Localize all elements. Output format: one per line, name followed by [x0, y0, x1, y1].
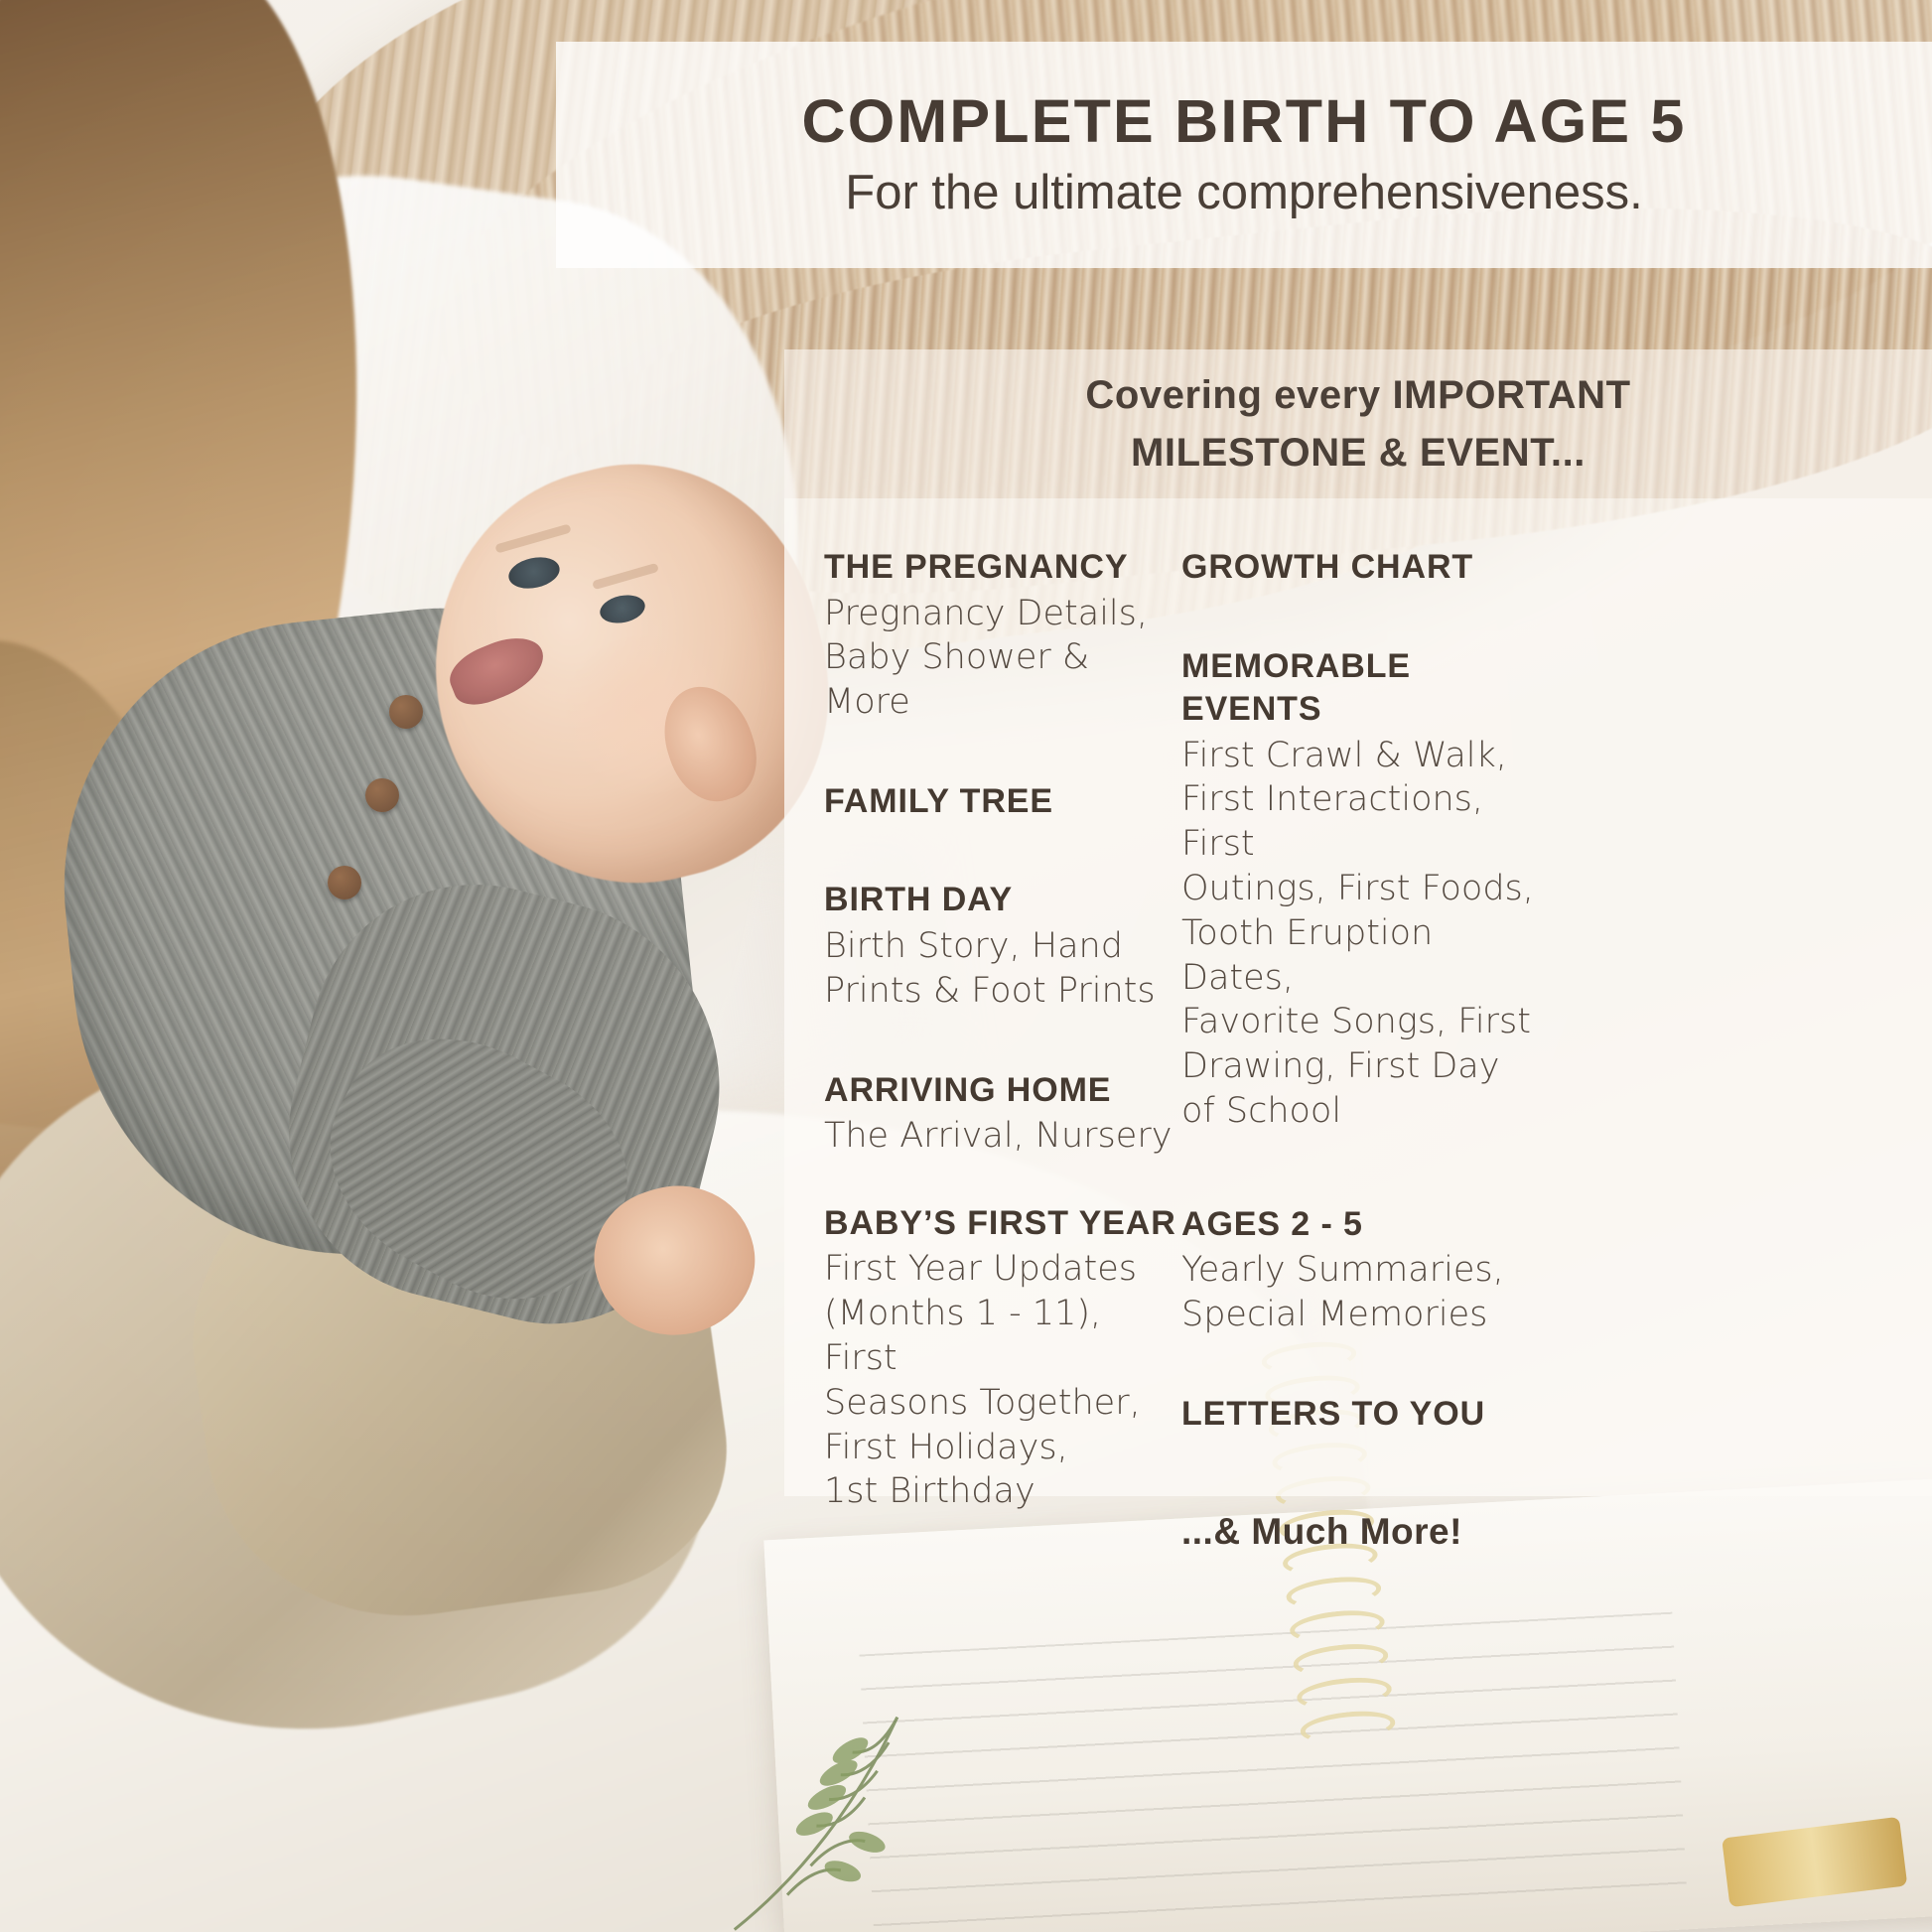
feature-letters-to-you: LETTERS TO YOU — [1181, 1393, 1539, 1437]
feature-babys-first-year: BABY’S FIRST YEAR First Year Updates(Mon… — [824, 1202, 1181, 1514]
feature-heading: LETTERS TO YOU — [1181, 1393, 1539, 1437]
feature-detail: First Year Updates(Months 1 - 11), First… — [824, 1247, 1181, 1514]
feature-heading: AGES 2 - 5 — [1181, 1203, 1539, 1247]
feature-list-panel: THE PREGNANCY Pregnancy Details,Baby Sho… — [784, 498, 1932, 1496]
feature-heading: ARRIVING HOME — [824, 1069, 1181, 1113]
feature-heading: BABY’S FIRST YEAR — [824, 1202, 1181, 1246]
feature-the-pregnancy: THE PREGNANCY Pregnancy Details,Baby Sho… — [824, 546, 1181, 725]
feature-ages-2-5: AGES 2 - 5 Yearly Summaries,Special Memo… — [1181, 1203, 1539, 1337]
feature-heading: FAMILY TREE — [824, 780, 1181, 824]
feature-column-right: GROWTH CHART MEMORABLE EVENTS First Craw… — [1181, 546, 1539, 1496]
feature-growth-chart: GROWTH CHART — [1181, 546, 1539, 590]
banner-line-1: Covering every IMPORTANT — [1085, 366, 1630, 424]
feature-heading: MEMORABLE EVENTS — [1181, 645, 1539, 732]
title-panel: COMPLETE BIRTH TO AGE 5 For the ultimate… — [556, 42, 1932, 268]
feature-column-left: THE PREGNANCY Pregnancy Details,Baby Sho… — [824, 546, 1181, 1496]
onesie-button — [328, 866, 361, 899]
feature-family-tree: FAMILY TREE — [824, 780, 1181, 824]
feature-detail: First Crawl & Walk,First Interactions, F… — [1181, 734, 1539, 1134]
feature-columns: THE PREGNANCY Pregnancy Details,Baby Sho… — [824, 546, 1932, 1496]
feature-heading: THE PREGNANCY — [824, 546, 1181, 590]
feature-heading: BIRTH DAY — [824, 879, 1181, 922]
journal-gold-foil — [1722, 1817, 1907, 1907]
onesie-button — [365, 778, 399, 812]
banner-line-2: MILESTONE & EVENT... — [1131, 424, 1586, 482]
promo-graphic: COMPLETE BIRTH TO AGE 5 For the ultimate… — [0, 0, 1932, 1932]
feature-heading: GROWTH CHART — [1181, 546, 1539, 590]
feature-detail: The Arrival, Nursery — [824, 1114, 1181, 1159]
feature-detail: Birth Story, HandPrints & Foot Prints — [824, 924, 1181, 1014]
much-more-text: ...& Much More! — [1181, 1511, 1539, 1553]
banner-panel: Covering every IMPORTANT MILESTONE & EVE… — [784, 349, 1932, 498]
page-title: COMPLETE BIRTH TO AGE 5 — [801, 89, 1686, 153]
page-subtitle: For the ultimate comprehensiveness. — [845, 167, 1642, 220]
feature-arriving-home: ARRIVING HOME The Arrival, Nursery — [824, 1069, 1181, 1159]
feature-detail: Yearly Summaries,Special Memories — [1181, 1248, 1539, 1337]
feature-birth-day: BIRTH DAY Birth Story, HandPrints & Foot… — [824, 879, 1181, 1013]
feature-detail: Pregnancy Details,Baby Shower & More — [824, 592, 1181, 725]
greenery-illustration — [679, 1612, 1113, 1932]
feature-memorable-events: MEMORABLE EVENTS First Crawl & Walk,Firs… — [1181, 645, 1539, 1134]
onesie-button — [389, 695, 423, 729]
